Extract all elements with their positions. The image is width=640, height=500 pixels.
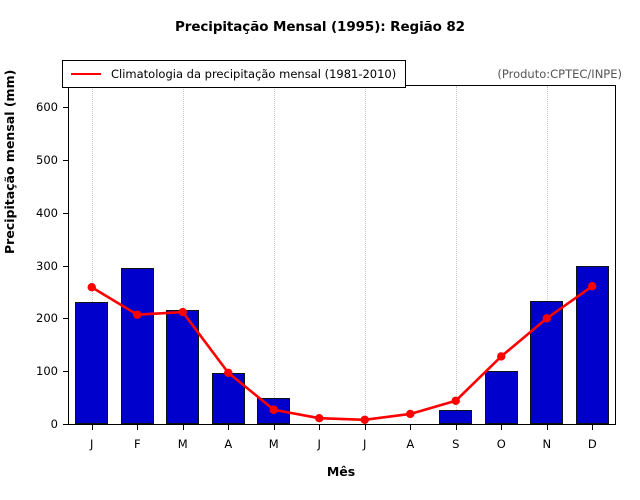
x-axis-tick-label: F — [134, 437, 141, 451]
x-axis-tick-label: D — [588, 437, 597, 451]
legend-line-swatch-icon — [71, 73, 101, 75]
x-axis-tick — [547, 424, 548, 430]
x-axis-tick — [137, 424, 138, 430]
x-axis-tick-label: J — [318, 437, 321, 451]
bar — [439, 410, 472, 424]
x-axis-tick — [592, 424, 593, 430]
plot-area: 0100200300400500600JFMAMJJASOND — [68, 85, 616, 425]
y-axis-tick — [63, 424, 69, 425]
bar — [485, 371, 518, 424]
plot-inner — [69, 86, 615, 424]
x-axis-label: Mês — [68, 464, 614, 479]
bar — [75, 302, 108, 424]
x-axis-tick — [501, 424, 502, 430]
chart-legend: Climatologia da precipitação mensal (198… — [62, 60, 406, 88]
y-axis-tick-label: 100 — [36, 364, 58, 378]
x-axis-tick — [92, 424, 93, 430]
y-axis-tick-label: 400 — [36, 206, 58, 220]
y-axis-tick-label: 600 — [36, 100, 58, 114]
x-axis-tick-label: J — [90, 437, 93, 451]
bar — [166, 310, 199, 424]
bar — [576, 266, 609, 424]
x-axis-tick — [183, 424, 184, 430]
gridline-vertical — [365, 86, 366, 424]
y-axis-tick — [63, 107, 69, 108]
y-axis-tick — [63, 160, 69, 161]
gridline-vertical — [274, 86, 275, 424]
x-axis-tick — [456, 424, 457, 430]
bar — [257, 398, 290, 424]
y-axis-label: Precipitação mensal (mm) — [2, 70, 17, 254]
y-axis-tick — [63, 371, 69, 372]
x-axis-tick — [274, 424, 275, 430]
x-axis-tick-label: S — [452, 437, 459, 451]
x-axis-tick — [410, 424, 411, 430]
x-axis-tick — [228, 424, 229, 430]
x-axis-tick-label: M — [269, 437, 279, 451]
x-axis-tick-label: A — [224, 437, 232, 451]
chart-figure: Precipitação Mensal (1995): Região 82 01… — [0, 0, 640, 500]
x-axis-tick-label: N — [542, 437, 551, 451]
x-axis-tick — [365, 424, 366, 430]
gridline-vertical — [456, 86, 457, 424]
producer-annotation: (Produto:CPTEC/INPE) — [497, 67, 622, 81]
chart-title: Precipitação Mensal (1995): Região 82 — [0, 19, 640, 35]
y-axis-tick-label: 500 — [36, 153, 58, 167]
bar — [212, 373, 245, 424]
y-axis-tick — [63, 213, 69, 214]
x-axis-tick-label: A — [406, 437, 414, 451]
y-axis-tick — [63, 318, 69, 319]
x-axis-tick-label: M — [178, 437, 188, 451]
y-axis-tick-label: 0 — [51, 417, 58, 431]
legend-entry-label: Climatologia da precipitação mensal (198… — [111, 67, 396, 81]
y-axis-tick-label: 200 — [36, 311, 58, 325]
y-axis-tick-label: 300 — [36, 259, 58, 273]
bar — [121, 268, 154, 424]
x-axis-tick-label: O — [497, 437, 506, 451]
y-axis-tick — [63, 266, 69, 267]
x-axis-tick — [319, 424, 320, 430]
bar — [530, 301, 563, 424]
x-axis-tick-label: J — [363, 437, 366, 451]
